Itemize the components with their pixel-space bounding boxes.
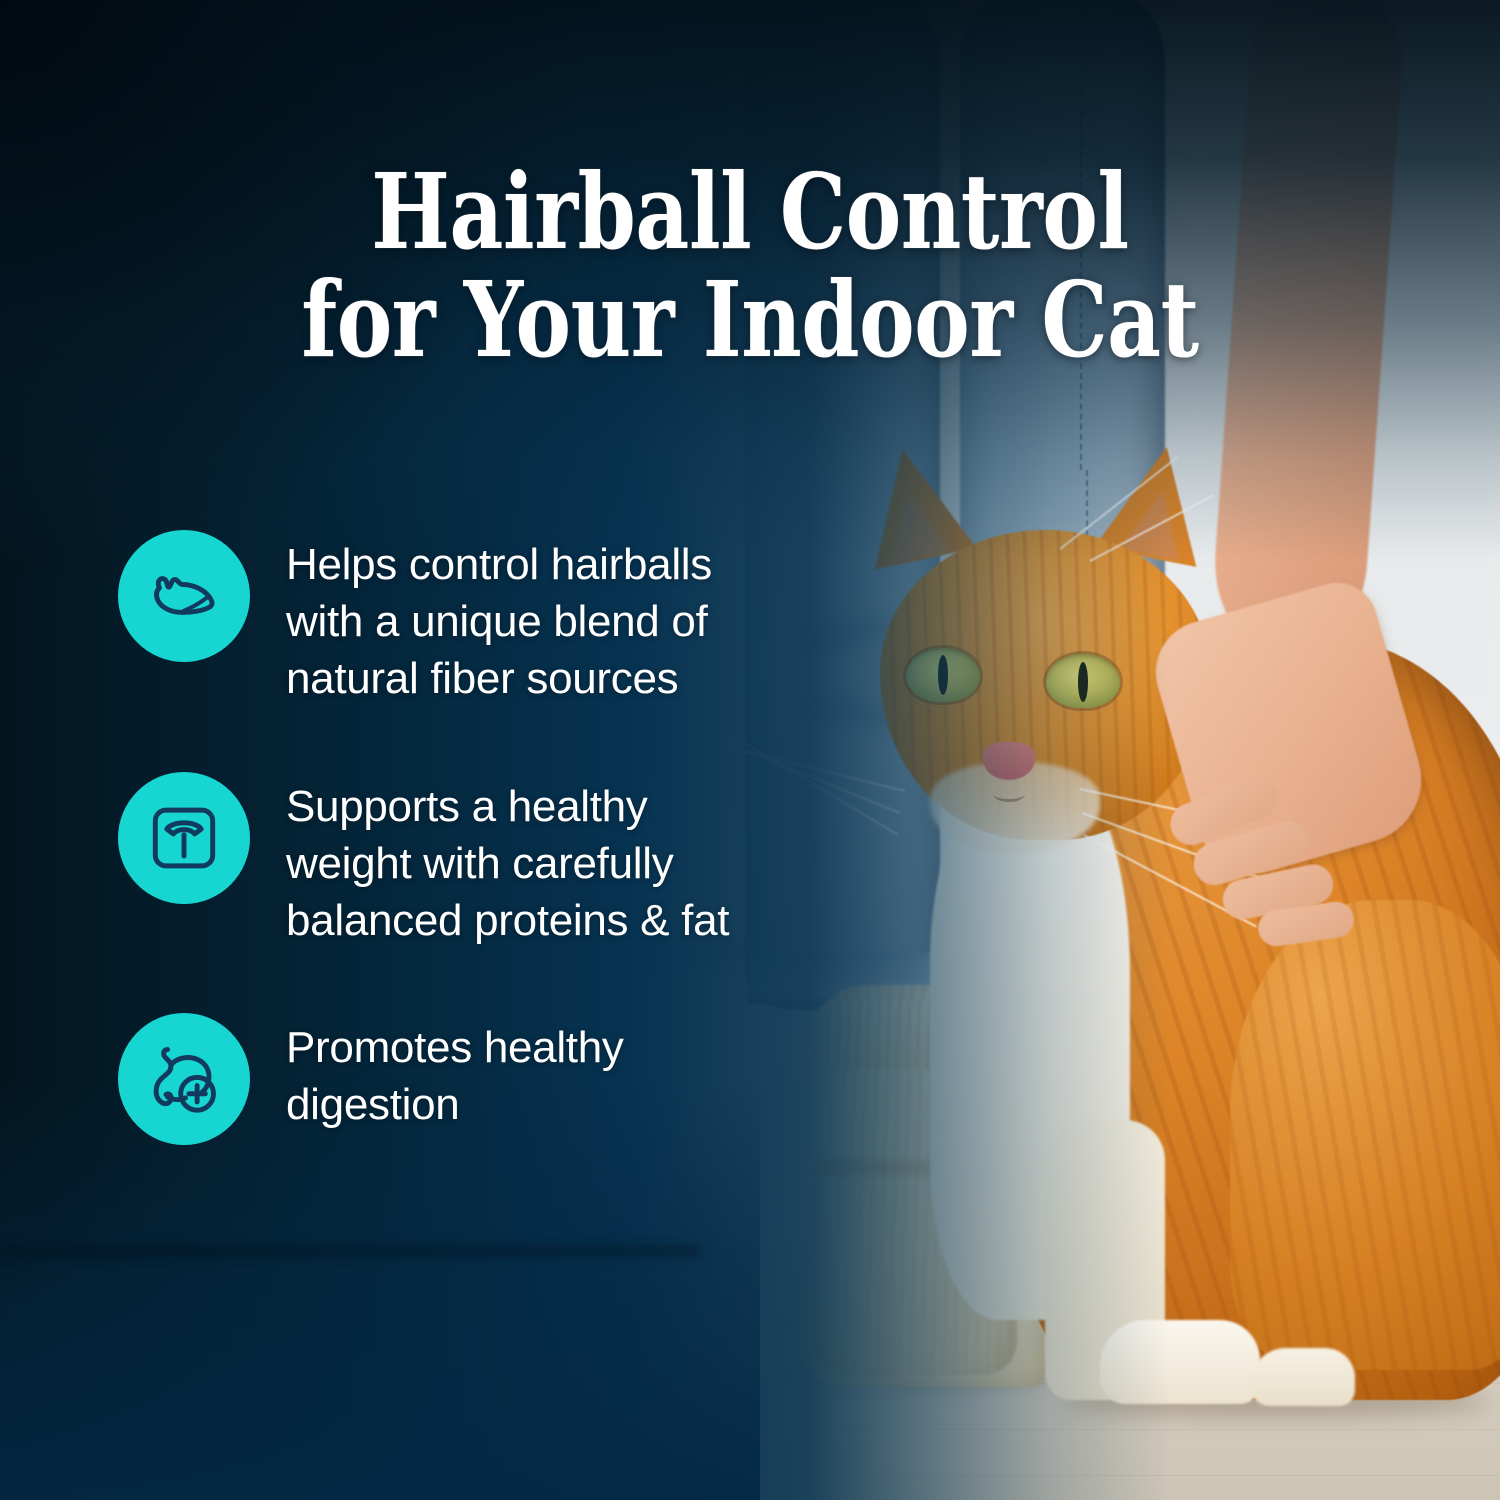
benefit-text-hairball: Helps control hairballs with a unique bl…	[286, 530, 712, 708]
headline: Hairball Control for Your Indoor Cat	[270, 158, 1230, 374]
headline-line-2: for Your Indoor Cat	[270, 266, 1230, 374]
ad-content: Hairball Control for Your Indoor Cat Hel…	[0, 0, 1500, 1500]
benefit-list: Helps control hairballs with a unique bl…	[118, 530, 818, 1145]
benefit-item-hairball: Helps control hairballs with a unique bl…	[118, 530, 818, 708]
hairball-control-cat-food-ad: Hairball Control for Your Indoor Cat Hel…	[0, 0, 1500, 1500]
benefit-text-weight: Supports a healthy weight with carefully…	[286, 772, 729, 950]
hairball-icon-badge	[118, 530, 250, 662]
weight-scale-icon	[143, 797, 225, 879]
stomach-plus-icon-badge	[118, 1013, 250, 1145]
weight-scale-icon-badge	[118, 772, 250, 904]
headline-line-1: Hairball Control	[270, 158, 1230, 266]
stomach-plus-icon	[143, 1038, 225, 1120]
hairball-icon	[143, 555, 225, 637]
benefit-text-digestion: Promotes healthy digestion	[286, 1013, 624, 1133]
benefit-item-weight: Supports a healthy weight with carefully…	[118, 772, 818, 950]
benefit-item-digestion: Promotes healthy digestion	[118, 1013, 818, 1145]
